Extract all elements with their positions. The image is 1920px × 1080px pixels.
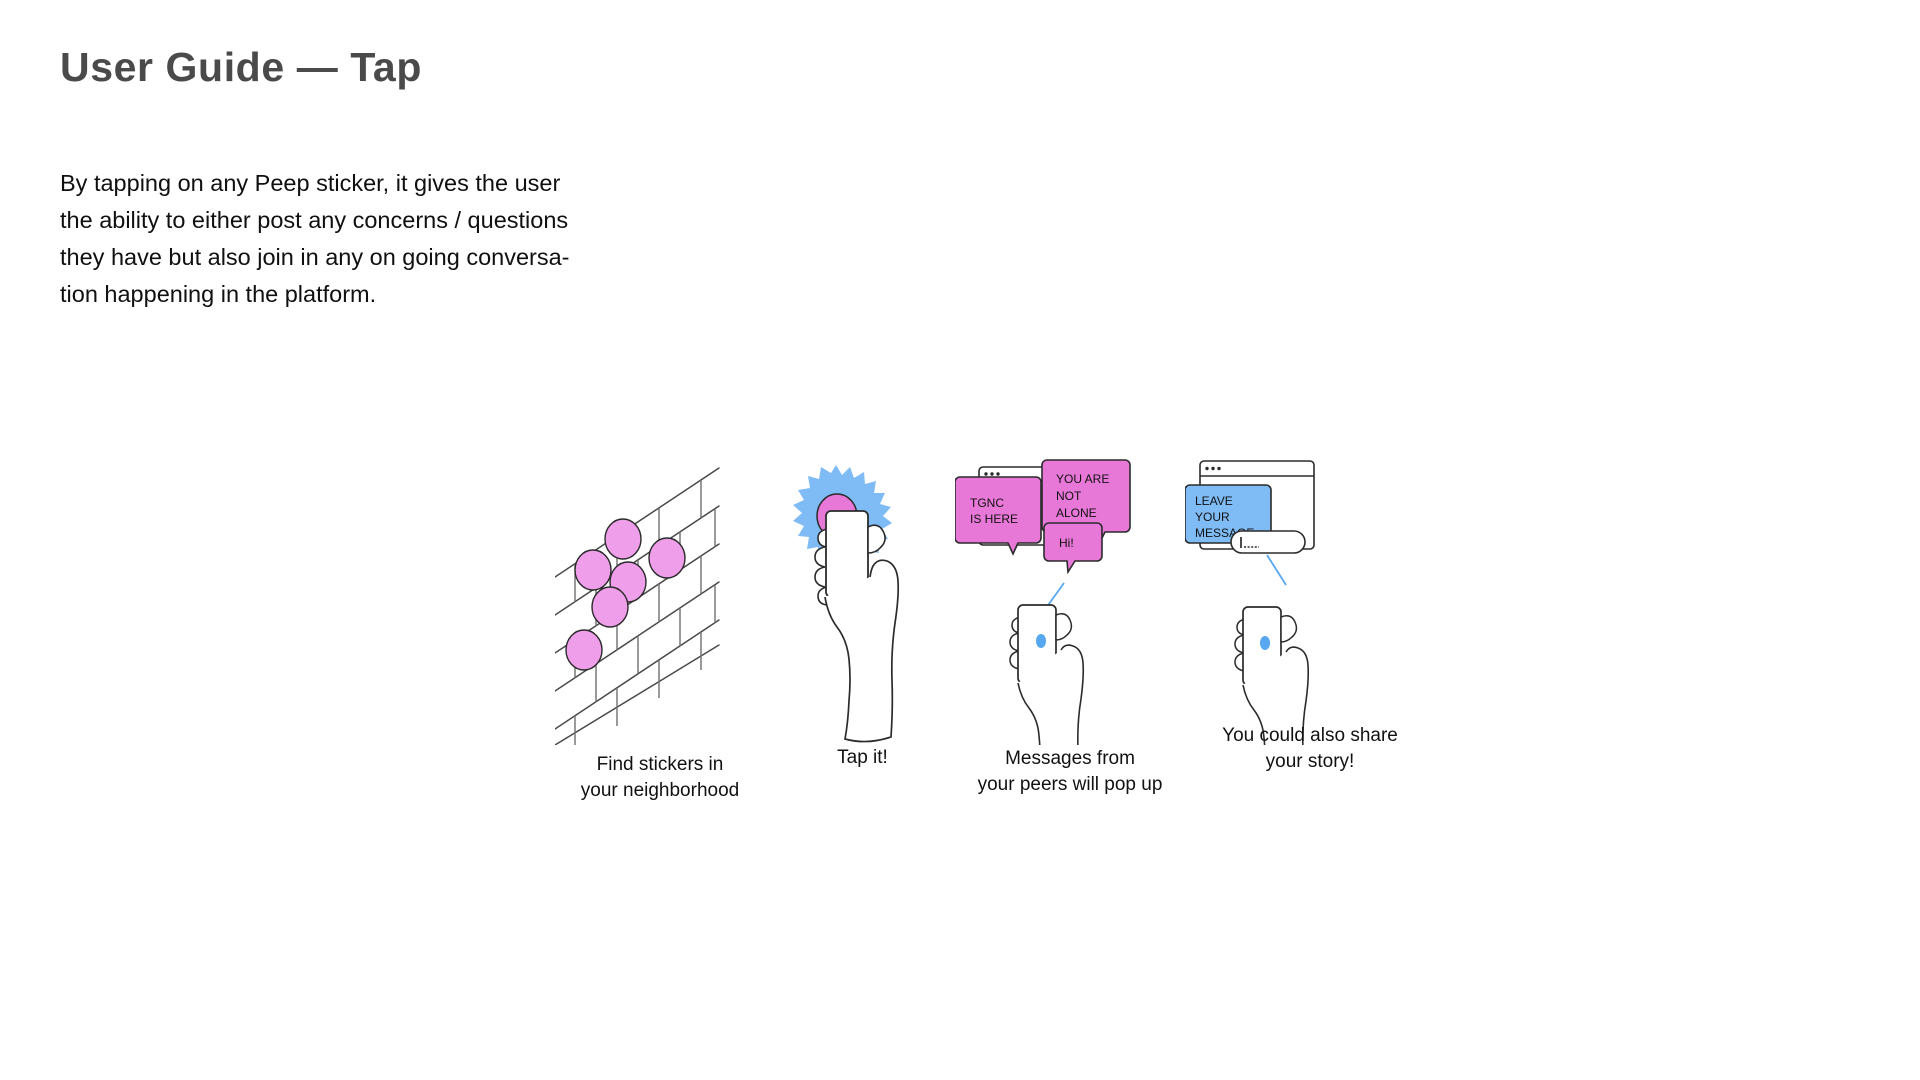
caption-line-1: You could also share <box>1185 723 1435 749</box>
bubble-text-line-3: ALONE <box>1056 506 1097 520</box>
caption-line-2: your story! <box>1185 749 1435 775</box>
caption-line-1: Messages from <box>955 746 1185 772</box>
tap-connector-line <box>1267 555 1286 585</box>
bubble-tgnc: TGNC IS HERE <box>955 477 1041 554</box>
tap-dot-icon <box>1036 634 1046 648</box>
bubble-text-line-1: Hi! <box>1059 536 1074 550</box>
caption-line-1: Tap it! <box>770 745 955 771</box>
bubble-hi: Hi! <box>1044 523 1102 572</box>
leave-message-illustration: LEAVE YOUR MESSAGE <box>1185 455 1435 745</box>
bubble-text-line-2: NOT <box>1056 489 1082 503</box>
panel-tap-it: Tap it! <box>770 455 955 805</box>
thumb <box>1281 616 1296 642</box>
window-dots-icon <box>984 472 999 475</box>
card-text-line-2: YOUR <box>1195 510 1230 524</box>
peep-stickers <box>566 519 685 670</box>
caption-line-2: your neighborhood <box>555 778 765 804</box>
intro-line-1: By tapping on any Peep sticker, it gives… <box>60 165 700 202</box>
card-text-line-1: LEAVE <box>1195 494 1233 508</box>
brick-wall-illustration <box>555 455 765 745</box>
bubble-text-line-1: YOU ARE <box>1056 472 1109 486</box>
intro-line-2: the ability to either post any concerns … <box>60 202 700 239</box>
user-guide-page: User Guide — Tap By tapping on any Peep … <box>0 0 1920 1080</box>
intro-line-4: tion happening in the platform. <box>60 276 700 313</box>
caption-messages: Messages from your peers will pop up <box>955 746 1185 798</box>
window-dots-icon <box>1205 467 1220 470</box>
caption-find-stickers: Find stickers in your neighborhood <box>555 752 765 804</box>
hand-tapping-sticker-illustration <box>770 455 955 745</box>
panel-messages: YOU ARE NOT ALONE TGNC IS HERE Hi! <box>955 455 1185 805</box>
caption-share-story: You could also share your story! <box>1185 723 1435 775</box>
sticker-1 <box>605 519 641 559</box>
tap-dot-icon <box>1260 636 1270 650</box>
chat-bubbles-illustration: YOU ARE NOT ALONE TGNC IS HERE Hi! <box>955 455 1185 745</box>
bubble-text-line-2: IS HERE <box>970 512 1018 526</box>
thumb <box>1056 614 1071 640</box>
caption-tap-it: Tap it! <box>770 745 955 771</box>
intro-line-3: they have but also join in any on going … <box>60 239 700 276</box>
illustration-strip: Find stickers in your neighborhood <box>555 455 1485 805</box>
message-input-field <box>1231 531 1305 553</box>
intro-paragraph: By tapping on any Peep sticker, it gives… <box>60 165 700 313</box>
caption-line-1: Find stickers in <box>555 752 765 778</box>
sticker-6 <box>566 630 602 670</box>
bubble-text-line-1: TGNC <box>970 496 1004 510</box>
thumb <box>868 525 885 553</box>
panel-share-story: LEAVE YOUR MESSAGE <box>1185 455 1435 805</box>
sticker-5 <box>592 587 628 627</box>
caption-line-2: your peers will pop up <box>955 772 1185 798</box>
sticker-2 <box>575 550 611 590</box>
sticker-3 <box>649 538 685 578</box>
panel-find-stickers: Find stickers in your neighborhood <box>555 455 765 805</box>
page-title: User Guide — Tap <box>60 44 422 91</box>
